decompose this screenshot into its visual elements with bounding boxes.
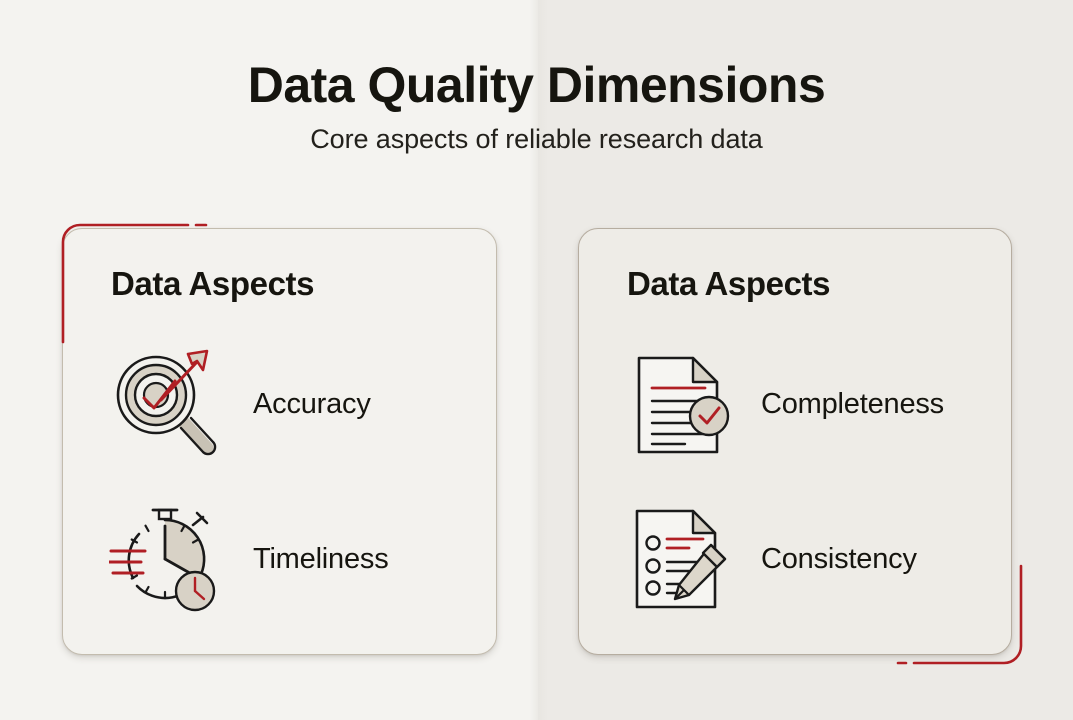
- data-aspects-card-right[interactable]: Data Aspects Completeness: [578, 228, 1012, 655]
- aspect-row-completeness[interactable]: Completeness: [623, 344, 983, 464]
- page-subtitle: Core aspects of reliable research data: [0, 124, 1073, 155]
- aspect-label-timeliness: Timeliness: [253, 543, 389, 576]
- header: Data Quality Dimensions Core aspects of …: [0, 58, 1073, 155]
- card-heading-left: Data Aspects: [111, 265, 314, 303]
- aspect-row-accuracy[interactable]: Accuracy: [109, 344, 469, 464]
- target-magnifier-arrow-icon: [109, 348, 221, 460]
- aspect-label-completeness: Completeness: [761, 388, 944, 421]
- data-aspects-card-left[interactable]: Data Aspects Accuracy: [62, 228, 497, 655]
- card-heading-right: Data Aspects: [627, 265, 830, 303]
- document-check-icon: [623, 348, 735, 460]
- aspect-row-timeliness[interactable]: Timeliness: [109, 499, 469, 619]
- aspect-label-accuracy: Accuracy: [253, 388, 371, 421]
- checklist-pencil-icon: [623, 503, 735, 615]
- aspect-row-consistency[interactable]: Consistency: [623, 499, 983, 619]
- page-title: Data Quality Dimensions: [0, 58, 1073, 112]
- aspect-label-consistency: Consistency: [761, 543, 917, 576]
- stopwatch-speed-icon: [109, 503, 221, 615]
